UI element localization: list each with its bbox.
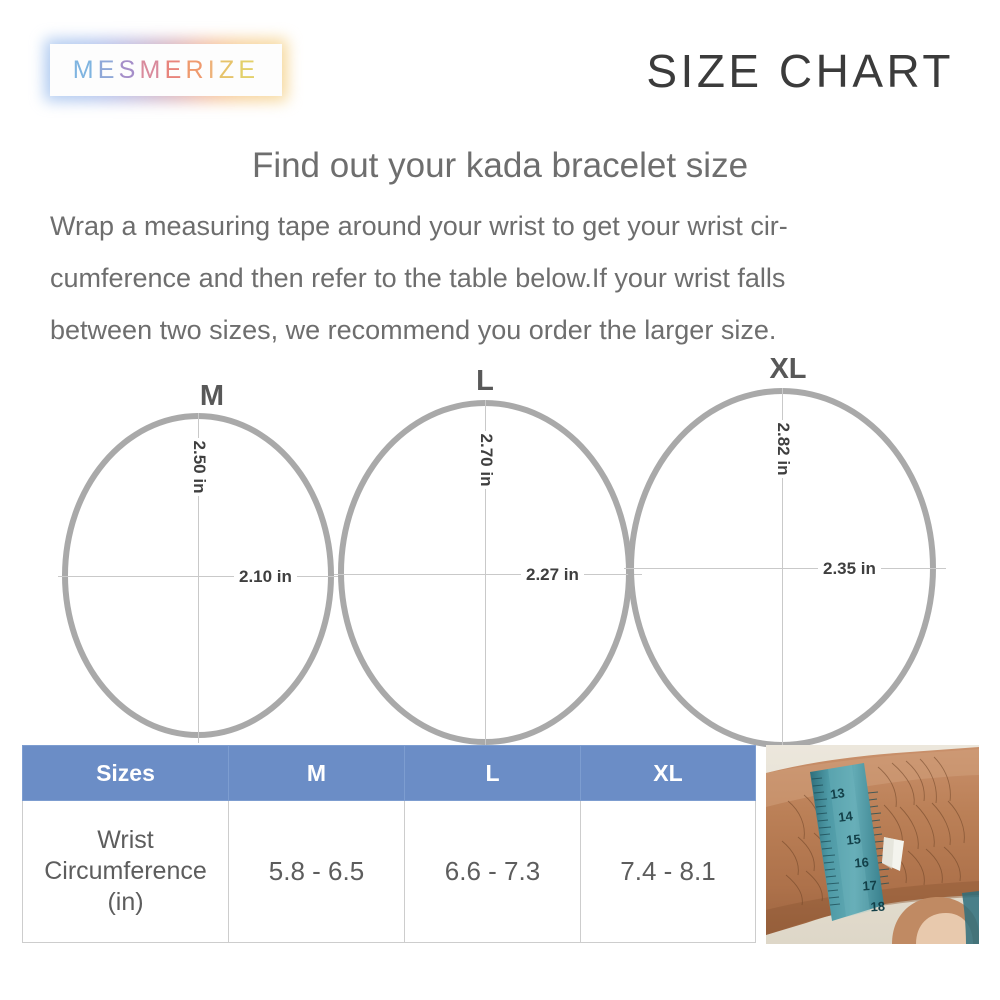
oval-width-label-l: 2.27 in xyxy=(521,564,584,586)
brand-logo: MESMERIZE xyxy=(50,44,282,96)
table-header-xl: XL xyxy=(581,746,756,801)
oval-guide-horizontal-m xyxy=(58,576,344,577)
table-row: Wrist Circumference (in) 5.8 - 6.5 6.6 -… xyxy=(23,801,756,943)
tape-number-15: 15 xyxy=(846,831,862,847)
page-title: SIZE CHART xyxy=(646,44,954,98)
row-label-line-2: Circumference xyxy=(23,856,228,887)
row-label-line-3: (in) xyxy=(23,887,228,918)
logo-letter-3: S xyxy=(119,56,140,85)
table-cell-wrist-xl: 7.4 - 8.1 xyxy=(581,801,756,943)
tape-number-17: 17 xyxy=(862,878,877,894)
size-chart-page: MESMERIZE SIZE CHART Find out your kada … xyxy=(0,0,1000,1000)
wrist-photo-illustration: 13 14 15 16 17 18 xyxy=(766,745,979,944)
logo-wordmark: MESMERIZE xyxy=(73,56,259,85)
oval-diagram-xl: XL 2.82 in 2.35 in xyxy=(628,340,948,740)
table-header-m: M xyxy=(229,746,405,801)
size-table: Sizes M L XL Wrist Circumference (in) 5.… xyxy=(22,745,756,943)
table-row-label: Wrist Circumference (in) xyxy=(23,801,229,943)
oval-diagram-m: M 2.50 in 2.10 in xyxy=(62,358,352,736)
subheading: Find out your kada bracelet size xyxy=(0,146,1000,186)
logo-letter-7: I xyxy=(208,56,219,85)
logo-letter-8: Z xyxy=(219,56,238,85)
table-header-l: L xyxy=(405,746,581,801)
table-header-row: Sizes M L XL xyxy=(23,746,756,801)
logo-letter-4: M xyxy=(140,56,165,85)
tape-number-14: 14 xyxy=(837,808,854,825)
intro-line-1: Wrap a measuring tape around your wrist … xyxy=(50,200,955,252)
logo-letter-9: E xyxy=(238,56,259,85)
oval-height-label-m: 2.50 in xyxy=(185,438,213,496)
intro-paragraph: Wrap a measuring tape around your wrist … xyxy=(50,200,955,356)
tape-number-16: 16 xyxy=(854,854,870,870)
oval-height-label-xl: 2.82 in xyxy=(769,420,797,478)
logo-letter-1: M xyxy=(73,56,98,85)
oval-height-label-l: 2.70 in xyxy=(472,431,500,489)
tape-number-13: 13 xyxy=(829,785,845,802)
row-label-line-1: Wrist xyxy=(23,825,228,856)
table-cell-wrist-m: 5.8 - 6.5 xyxy=(229,801,405,943)
oval-width-label-xl: 2.35 in xyxy=(818,558,881,580)
oval-diagram-l: L 2.70 in 2.27 in xyxy=(338,348,638,738)
intro-line-2: cumference and then refer to the table b… xyxy=(50,252,955,304)
oval-label-m: M xyxy=(182,380,242,413)
logo-letter-5: E xyxy=(165,56,186,85)
table-cell-wrist-l: 6.6 - 7.3 xyxy=(405,801,581,943)
oval-diagrams: M 2.50 in 2.10 in L 2.70 in 2.27 in XL 2… xyxy=(0,340,1000,740)
logo-box: MESMERIZE xyxy=(50,44,282,96)
logo-letter-6: R xyxy=(185,56,207,85)
oval-label-l: L xyxy=(455,365,515,398)
tape-number-18: 18 xyxy=(870,899,885,915)
table-header-sizes: Sizes xyxy=(23,746,229,801)
oval-label-xl: XL xyxy=(753,353,823,386)
logo-letter-2: E xyxy=(98,56,119,85)
oval-guide-horizontal-l xyxy=(334,574,642,575)
wrist-measuring-photo: 13 14 15 16 17 18 xyxy=(766,745,979,944)
oval-width-label-m: 2.10 in xyxy=(234,566,297,588)
oval-guide-horizontal-xl xyxy=(624,568,946,569)
